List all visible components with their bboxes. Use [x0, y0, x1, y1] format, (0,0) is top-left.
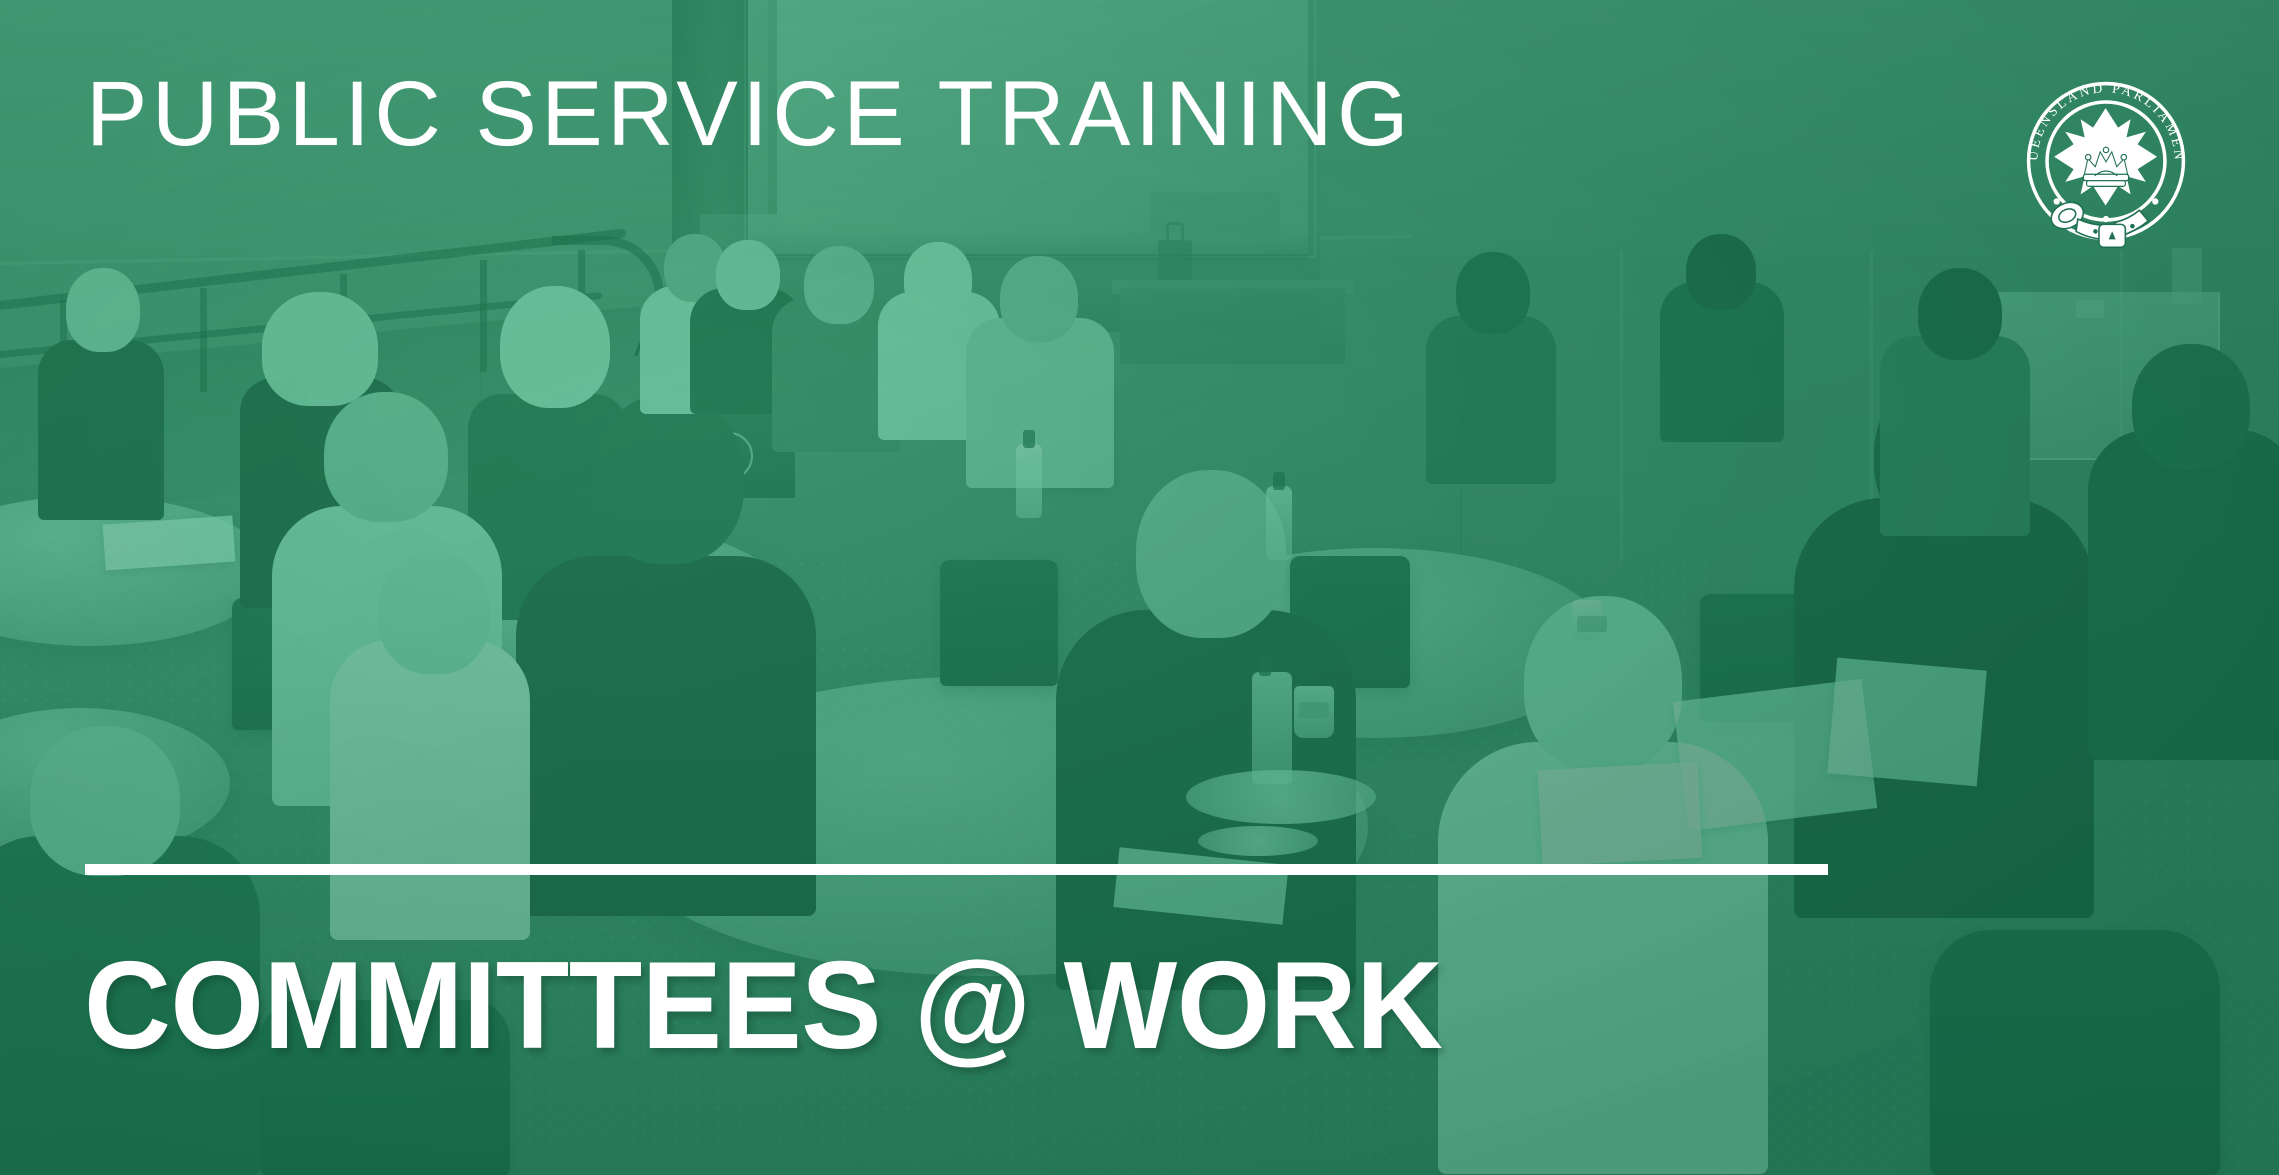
queensland-parliament-crest-icon: QUEENSLAND PARLIAMENT	[2018, 72, 2194, 250]
event-banner: PUBLIC SERVICE TRAINING COMMITTEES @ WOR…	[0, 0, 2279, 1175]
title-divider-rule	[85, 864, 1828, 875]
eyebrow-title: PUBLIC SERVICE TRAINING	[86, 68, 1413, 160]
page-title: COMMITTEES @ WORK	[84, 944, 1443, 1068]
banner-content: PUBLIC SERVICE TRAINING COMMITTEES @ WOR…	[0, 0, 2279, 1175]
